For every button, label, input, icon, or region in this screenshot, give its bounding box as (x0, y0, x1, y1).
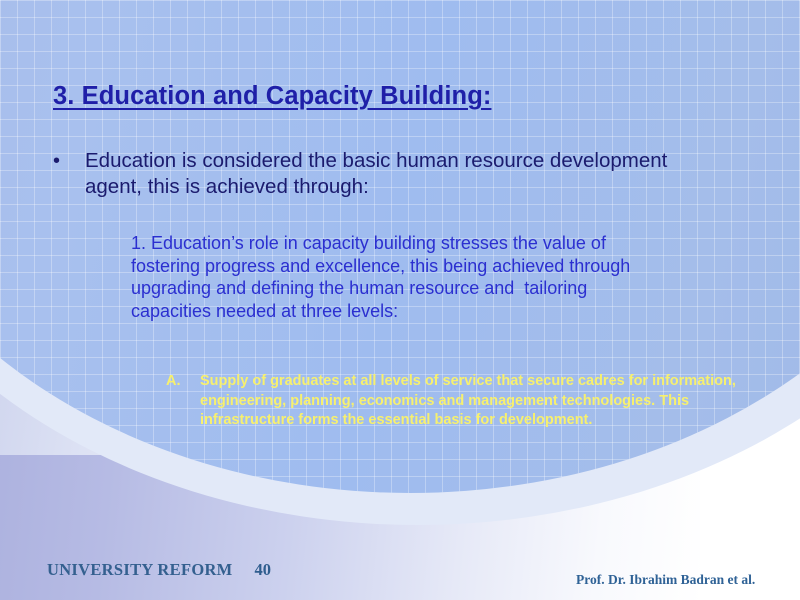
sub-item-text: Supply of graduates at all levels of ser… (200, 372, 736, 431)
footer-brand-label: UNIVERSITY REFORM (47, 560, 233, 580)
bullet-item-text: Education is considered the basic human … (85, 148, 673, 200)
slide-content: 3. Education and Capacity Building: • Ed… (0, 0, 800, 600)
bullet-dot-icon: • (53, 148, 85, 174)
bullet-list-item: • Education is considered the basic huma… (53, 148, 673, 200)
footer-author-label: Prof. Dr. Ibrahim Badran et al. (576, 572, 755, 588)
footer-left-group: UNIVERSITY REFORM 40 (47, 560, 271, 580)
slide-canvas: 3. Education and Capacity Building: • Ed… (0, 0, 800, 600)
page-title: 3. Education and Capacity Building: (53, 82, 491, 111)
slide-number: 40 (255, 560, 272, 580)
sub-item-marker: A. (166, 372, 200, 392)
sub-list-item: A. Supply of graduates at all levels of … (166, 372, 736, 431)
numbered-paragraph: 1. Education’s role in capacity building… (131, 232, 671, 322)
